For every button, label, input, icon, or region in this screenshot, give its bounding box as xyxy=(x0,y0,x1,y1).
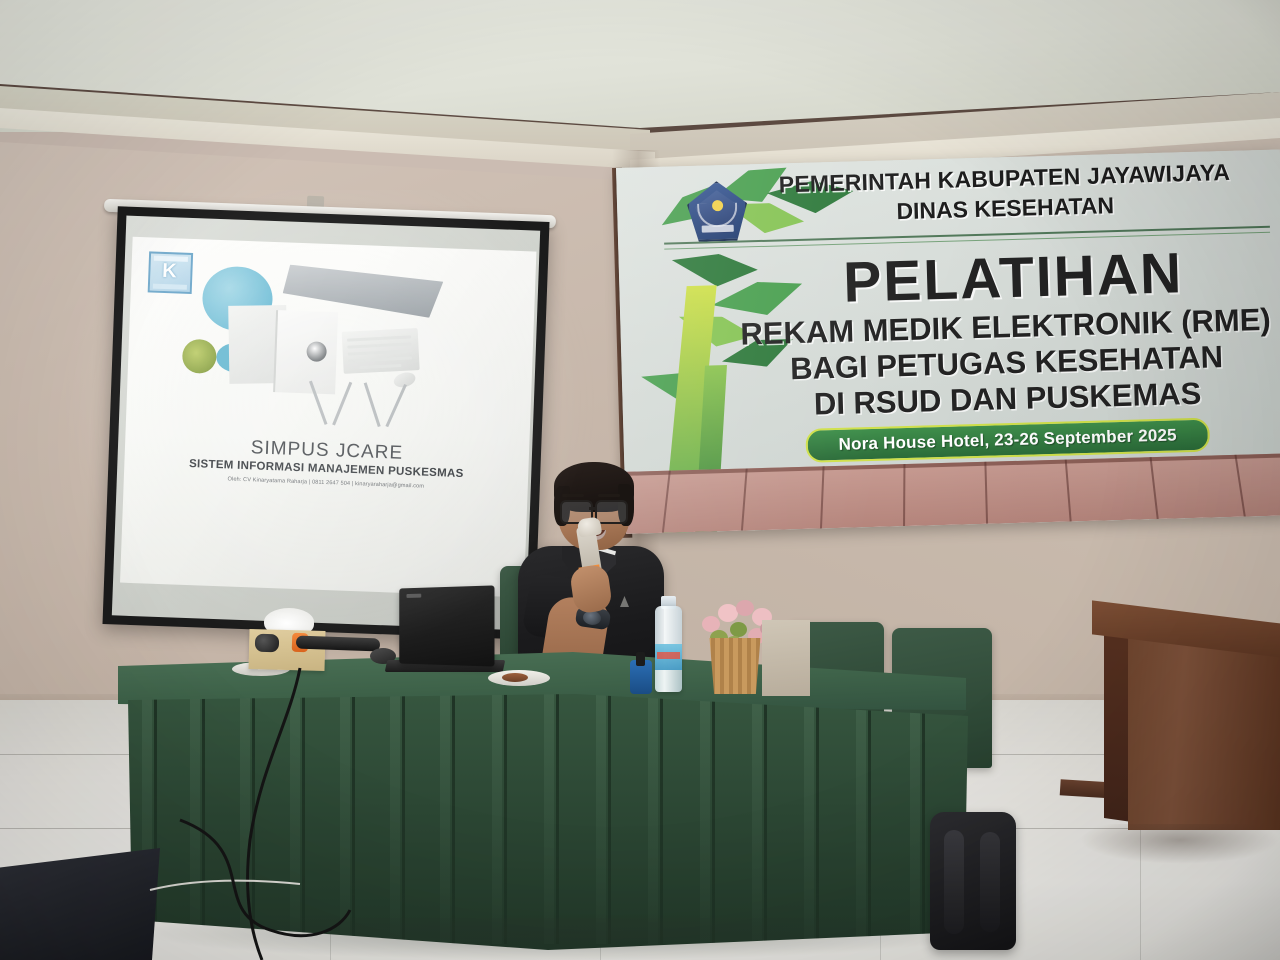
keyboard-icon xyxy=(342,328,420,374)
event-banner: PEMERINTAH KABUPATEN JAYAWIJAYA DINAS KE… xyxy=(616,149,1280,533)
slide-desk-illustration xyxy=(179,245,446,444)
flower-basket xyxy=(706,638,764,694)
plant-icon xyxy=(182,339,217,374)
table-floor-shadow xyxy=(150,918,970,960)
eyeglasses-bridge xyxy=(589,507,595,510)
banner-sheen xyxy=(616,149,1280,533)
microphone-head xyxy=(577,516,603,537)
laptop xyxy=(399,585,494,666)
foreground-table xyxy=(0,848,160,960)
backpack xyxy=(930,812,1016,950)
table-easel-card xyxy=(762,620,810,696)
eyebrow xyxy=(598,494,620,497)
bottle-label xyxy=(655,644,682,670)
seminar-room-photo: K xyxy=(0,0,1280,960)
projection-screen: K xyxy=(102,206,549,640)
wooden-podium xyxy=(1128,630,1280,830)
presentation-slide: K xyxy=(120,237,536,598)
table-mic-holder xyxy=(630,660,652,694)
snack-plate xyxy=(488,670,550,686)
eyebrow xyxy=(562,494,584,497)
table-skirt xyxy=(128,694,968,950)
monitor-icon xyxy=(282,264,444,318)
laptop-logo xyxy=(406,594,421,598)
table-microphone-head xyxy=(255,634,280,653)
monitor-stand xyxy=(310,379,408,430)
eyeglasses-lens-right xyxy=(595,500,628,524)
logo-glyph: K xyxy=(158,261,181,284)
podium-shadow xyxy=(1080,824,1280,864)
